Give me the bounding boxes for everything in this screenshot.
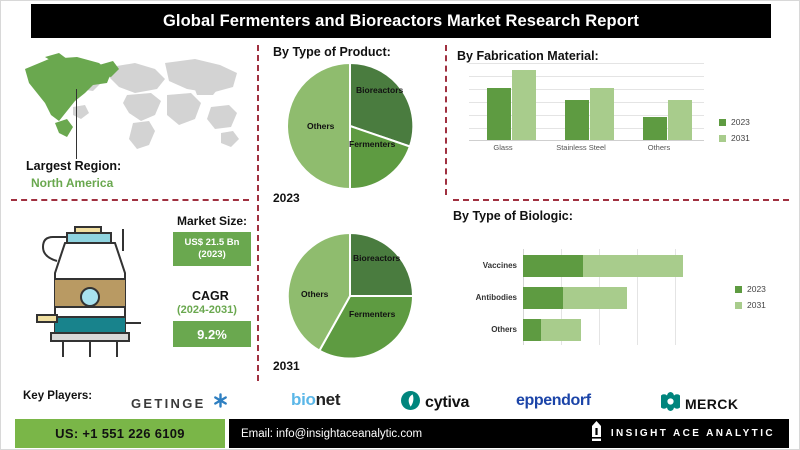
logo-bionet: bio net bbox=[291, 390, 340, 410]
footer-brand-text: INSIGHT ACE ANALYTIC bbox=[611, 428, 775, 439]
biologic-bar-chart: Vaccines Antibodies Others bbox=[471, 249, 721, 345]
legend-swatch-2023 bbox=[735, 286, 742, 293]
largest-region-label: Largest Region: bbox=[26, 159, 121, 173]
pie-2031-label-bioreactors: Bioreactors bbox=[353, 253, 400, 263]
legend-swatch-2031 bbox=[735, 302, 742, 309]
biologic-legend: 2023 2031 bbox=[735, 284, 766, 316]
title-bar: Global Fermenters and Bioreactors Market… bbox=[31, 4, 771, 38]
legend-item-2031: 2031 bbox=[735, 300, 766, 310]
section-heading-fabrication: By Fabrication Material: bbox=[457, 49, 599, 63]
pie-2031-label-fermenters: Fermenters bbox=[349, 309, 395, 319]
fermenter-illustration bbox=[23, 217, 163, 367]
logo-cytiva-text: cytiva bbox=[425, 394, 469, 412]
divider-horizontal-right bbox=[453, 199, 789, 201]
hbar-row-others: Others bbox=[523, 319, 581, 341]
cytiva-mark-icon bbox=[401, 391, 420, 415]
cagr-value: 9.2% bbox=[197, 327, 227, 342]
footer-phone-text: US: +1 551 226 6109 bbox=[55, 426, 185, 441]
pie-2031-year: 2031 bbox=[273, 359, 300, 373]
bar-glass-2031 bbox=[512, 70, 536, 140]
legend-label-2023: 2023 bbox=[731, 117, 750, 127]
section-heading-product: By Type of Product: bbox=[273, 45, 391, 59]
fabrication-plot-area bbox=[469, 63, 704, 141]
ytick-vaccines: Vaccines bbox=[483, 261, 517, 270]
cagr-label: CAGR bbox=[192, 289, 229, 303]
cagr-years: (2024-2031) bbox=[177, 304, 237, 316]
legend-item-2023: 2023 bbox=[735, 284, 766, 294]
hbar-row-vaccines: Vaccines bbox=[523, 255, 683, 277]
logo-eppendorf-text: eppendorf bbox=[516, 392, 591, 410]
map-pointer-line bbox=[76, 89, 77, 159]
legend-swatch-2031 bbox=[719, 135, 726, 142]
bar-stainless-2031 bbox=[590, 88, 614, 140]
hbar-vaccines-2031 bbox=[583, 255, 683, 277]
bar-stainless-2023 bbox=[565, 100, 589, 140]
market-size-label: Market Size: bbox=[177, 214, 247, 228]
axis-baseline bbox=[469, 140, 704, 141]
legend-item-2023: 2023 bbox=[719, 117, 750, 127]
footer-bar: Email: info@insightaceanalytic.com INSIG… bbox=[229, 419, 789, 448]
world-map bbox=[15, 49, 247, 159]
pie-2023-label-fermenters: Fermenters bbox=[349, 139, 395, 149]
logo-eppendorf: eppendorf bbox=[516, 392, 591, 410]
hbar-antibodies-2031 bbox=[563, 287, 627, 309]
footer-email-text: Email: info@insightaceanalytic.com bbox=[241, 428, 422, 440]
ytick-antibodies: Antibodies bbox=[476, 293, 517, 302]
insight-ace-logo-icon bbox=[590, 421, 603, 446]
xtick-stainless-steel: Stainless Steel bbox=[541, 143, 621, 152]
hbar-vaccines-2023 bbox=[523, 255, 583, 277]
logo-cytiva: cytiva bbox=[401, 391, 469, 415]
logo-bionet-text-b: net bbox=[316, 390, 341, 410]
hbar-others-2031 bbox=[541, 319, 581, 341]
divider-vertical-right bbox=[445, 45, 447, 195]
gridline bbox=[469, 76, 704, 77]
section-heading-biologic: By Type of Biologic: bbox=[453, 209, 573, 223]
cagr-box: 9.2% bbox=[173, 321, 251, 347]
pie-2023-label-bioreactors: Bioreactors bbox=[356, 85, 403, 95]
divider-vertical-left bbox=[257, 45, 259, 381]
legend-label-2023: 2023 bbox=[747, 284, 766, 294]
pie-2031-label-others: Others bbox=[301, 289, 328, 299]
hbar-others-2023 bbox=[523, 319, 541, 341]
ytick-others: Others bbox=[491, 325, 517, 334]
pie-2023-year: 2023 bbox=[273, 191, 300, 205]
logo-merck-text: MERCK bbox=[685, 396, 738, 412]
getinge-asterisk-icon bbox=[213, 393, 228, 413]
logo-getinge-text: GETINGE bbox=[131, 396, 206, 411]
key-players-label: Key Players: bbox=[23, 390, 92, 402]
footer-brand: INSIGHT ACE ANALYTIC bbox=[590, 421, 775, 446]
pie-chart-2023 bbox=[287, 63, 413, 189]
xtick-others: Others bbox=[619, 143, 699, 152]
legend-item-2031: 2031 bbox=[719, 133, 750, 143]
legend-swatch-2023 bbox=[719, 119, 726, 126]
gridline bbox=[469, 63, 704, 64]
infographic-root: Global Fermenters and Bioreactors Market… bbox=[0, 0, 800, 450]
xtick-glass: Glass bbox=[463, 143, 543, 152]
largest-region-value: North America bbox=[31, 176, 113, 190]
logo-merck: MERCK bbox=[661, 392, 738, 416]
bar-glass-2023 bbox=[487, 88, 511, 140]
market-size-box: US$ 21.5 Bn (2023) bbox=[173, 232, 251, 266]
fabrication-bar-chart: Glass Stainless Steel Others bbox=[469, 63, 704, 153]
market-size-value: US$ 21.5 Bn bbox=[185, 237, 240, 249]
divider-horizontal-left bbox=[11, 199, 249, 201]
market-size-year: (2023) bbox=[198, 249, 225, 261]
merck-mark-icon bbox=[661, 392, 680, 416]
hbar-row-antibodies: Antibodies bbox=[523, 287, 627, 309]
logo-bionet-text-a: bio bbox=[291, 390, 316, 410]
bar-others-2023 bbox=[643, 117, 667, 140]
hbar-antibodies-2023 bbox=[523, 287, 563, 309]
bar-others-2031 bbox=[668, 100, 692, 140]
fabrication-legend: 2023 2031 bbox=[719, 117, 750, 149]
pie-2023-label-others: Others bbox=[307, 121, 334, 131]
legend-label-2031: 2031 bbox=[747, 300, 766, 310]
footer-phone-box: US: +1 551 226 6109 bbox=[15, 419, 225, 448]
logo-getinge: GETINGE bbox=[131, 393, 228, 413]
page-title: Global Fermenters and Bioreactors Market… bbox=[163, 12, 639, 31]
legend-label-2031: 2031 bbox=[731, 133, 750, 143]
